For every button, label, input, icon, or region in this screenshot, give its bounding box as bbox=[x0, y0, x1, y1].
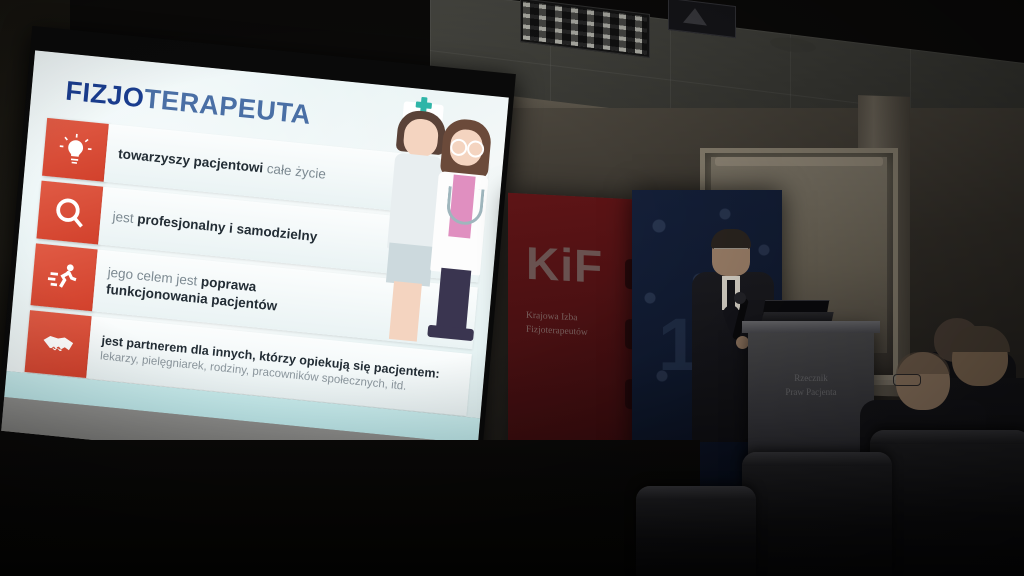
doctor-shoes bbox=[427, 325, 474, 342]
presentation-photo: FIZJOTERAPEUTA towarzyszy pacjentowi cał… bbox=[0, 0, 1024, 576]
auditorium-chair bbox=[742, 452, 892, 576]
screen-surface: FIZJOTERAPEUTA towarzyszy pacjentowi cał… bbox=[1, 50, 509, 478]
podium-sign-line2: Praw Pacjenta bbox=[748, 386, 874, 400]
slide-title-bold: FIZJO bbox=[64, 76, 145, 114]
podium-top bbox=[742, 321, 880, 333]
nurse-skirt bbox=[386, 242, 433, 286]
podium-sign-line1: Rzecznik bbox=[748, 372, 874, 386]
auditorium-chair bbox=[636, 486, 756, 576]
chair-top-edge bbox=[742, 452, 892, 466]
audience-member-glasses bbox=[893, 374, 921, 386]
row2-bold: profesjonalny i samodzielny bbox=[137, 211, 318, 244]
nurse-and-doctor-illustration bbox=[368, 94, 502, 354]
speaker-hair bbox=[711, 229, 751, 249]
speaker-glasses bbox=[714, 248, 748, 255]
lightbulb-icon bbox=[42, 118, 109, 182]
nurse-legs bbox=[389, 281, 422, 342]
doctor-trousers bbox=[436, 268, 471, 333]
podium-sign: Rzecznik Praw Pacjenta bbox=[748, 372, 874, 399]
kif-logo: KiF bbox=[526, 236, 603, 294]
slide: FIZJOTERAPEUTA towarzyszy pacjentowi cał… bbox=[7, 50, 509, 418]
magnifier-icon bbox=[36, 181, 103, 245]
running-person-icon bbox=[30, 243, 97, 311]
blind-roller bbox=[715, 157, 883, 166]
auditorium-chair bbox=[870, 430, 1024, 576]
foreground-floor bbox=[0, 440, 700, 576]
microphone-head bbox=[734, 292, 746, 304]
row1-bold: towarzyszy pacjentowi bbox=[118, 146, 264, 175]
screen-frame: FIZJOTERAPEUTA towarzyszy pacjentowi cał… bbox=[0, 26, 516, 493]
chair-top-edge bbox=[870, 430, 1024, 444]
chair-top-edge bbox=[636, 486, 756, 500]
handshake-icon bbox=[25, 310, 92, 378]
kif-subtitle: Krajowa Izba Fizjoterapeutów bbox=[526, 310, 622, 343]
vent-triangle bbox=[683, 7, 707, 26]
row1-light: całe życie bbox=[263, 160, 327, 181]
row2-light: jest bbox=[112, 208, 138, 225]
slide-title-light: TERAPEUTA bbox=[143, 83, 312, 130]
